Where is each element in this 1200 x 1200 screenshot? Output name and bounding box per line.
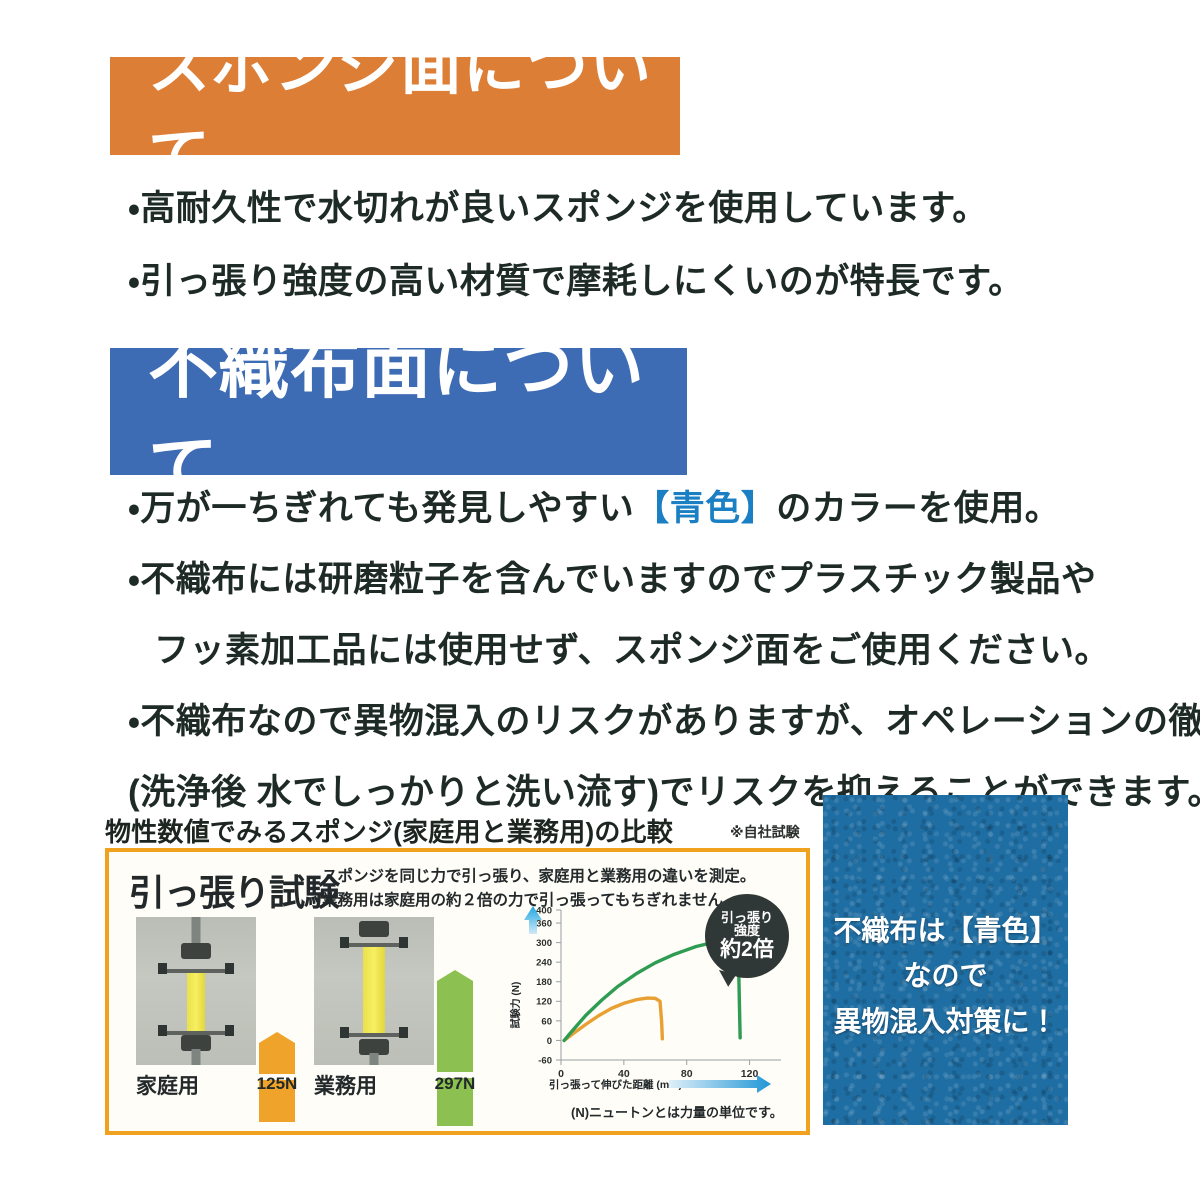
svg-text:180: 180 (536, 977, 552, 988)
nonwoven-bullet-1-highlight: 【青色】 (634, 489, 776, 528)
nonwoven-color-card-line2: なので (823, 953, 1068, 998)
svg-text:120: 120 (536, 997, 552, 1008)
value-bar-home-number: 125N (257, 1074, 298, 1094)
nonwoven-color-card: 不織布は【青色】 なので 異物混入対策に！ (823, 795, 1068, 1125)
sponge-bullet-2: ・引っ張り強度の高い材質で摩耗しにくいのが特長です。 (128, 253, 1024, 304)
svg-text:80: 80 (681, 1068, 693, 1080)
strength-badge: 引っ張り 強度 約2倍 (705, 894, 789, 978)
nonwoven-bullet-3-line1: ・不織布なので異物混入のリスクがありますが、オペレーションの徹底 (128, 693, 1200, 744)
value-bar-professional-number: 297N (435, 1074, 476, 1094)
tensile-test-title: 引っ張り試験 (129, 864, 339, 916)
svg-text:0: 0 (547, 1036, 552, 1047)
svg-text:240: 240 (536, 958, 552, 969)
svg-text:試験力 (N): 試験力 (N) (509, 982, 522, 1029)
strength-badge-line1: 引っ張り (721, 911, 773, 925)
specimen-label-home: 家庭用 (136, 1070, 199, 1100)
tensile-chart: -60060120180240300360400 04080120 試験力 (N… (489, 900, 799, 1125)
nonwoven-section-heading: 不織布面について (110, 348, 687, 475)
chart-footnote: (N)ニュートンとは力量の単位です。 (571, 1102, 783, 1121)
sponge-bullet-1: ・高耐久性で水切れが良いスポンジを使用しています。 (128, 180, 1024, 231)
strength-badge-line2: 強度 (734, 924, 760, 938)
value-bar-home-cap (259, 1032, 295, 1052)
specimen-photo-professional (314, 917, 434, 1065)
nonwoven-bullet-1-pre: ・万が一ちぎれても発見しやすい (128, 489, 634, 528)
strength-badge-line3: 約2倍 (720, 939, 774, 961)
specimen-photo-home (136, 917, 256, 1065)
sponge-section-heading: スポンジ面について (110, 57, 680, 155)
svg-text:-60: -60 (538, 1055, 552, 1066)
page-root: スポンジ面について ・高耐久性で水切れが良いスポンジを使用しています。 ・引っ張… (0, 0, 1200, 1200)
nonwoven-bullet-2-line1: ・不織布には研磨粒子を含んでいますのでプラスチック製品や (128, 551, 1200, 602)
nonwoven-color-card-line1: 不織布は【青色】 (823, 908, 1068, 953)
svg-text:300: 300 (536, 938, 552, 949)
nonwoven-bullet-1-post: のカラーを使用。 (776, 489, 1060, 528)
svg-text:引っ張って伸びた距離 (mm): 引っ張って伸びた距離 (mm) (549, 1078, 682, 1091)
svg-text:360: 360 (536, 918, 552, 929)
comparison-title: 物性数値でみるスポンジ(家庭用と業務用)の比較 (105, 812, 673, 849)
sponge-bullet-list: ・高耐久性で水切れが良いスポンジを使用しています。 ・引っ張り強度の高い材質で摩… (128, 180, 1024, 326)
nonwoven-bullet-list: ・万が一ちぎれても発見しやすい【青色】のカラーを使用。 ・不織布には研磨粒子を含… (128, 480, 1200, 835)
value-bar-home-body (259, 1052, 295, 1074)
nonwoven-bullet-1: ・万が一ちぎれても発見しやすい【青色】のカラーを使用。 (128, 480, 1200, 531)
nonwoven-color-card-text: 不織布は【青色】 なので 異物混入対策に！ (823, 908, 1068, 1044)
nonwoven-bullet-2-line2: フッ素加工品には使用せず、スポンジ面をご使用ください。 (128, 622, 1200, 673)
nonwoven-color-card-line3: 異物混入対策に！ (823, 999, 1068, 1044)
specimen-label-professional: 業務用 (314, 1070, 377, 1100)
value-bar-professional-cap (437, 970, 473, 990)
svg-text:60: 60 (541, 1016, 552, 1027)
svg-text:120: 120 (741, 1068, 759, 1080)
tensile-test-panel: 引っ張り試験 スポンジを同じ力で引っ張り、家庭用と業務用の違いを測定。 業務用は… (105, 848, 810, 1135)
tensile-test-description-line1: スポンジを同じ力で引っ張り、家庭用と業務用の違いを測定。 (322, 865, 755, 889)
value-bar-home: 125N (259, 1032, 295, 1137)
value-bar-professional-body (437, 990, 473, 1072)
comparison-note: ※自社試験 (730, 822, 800, 842)
value-bar-professional: 297N (437, 970, 473, 1138)
